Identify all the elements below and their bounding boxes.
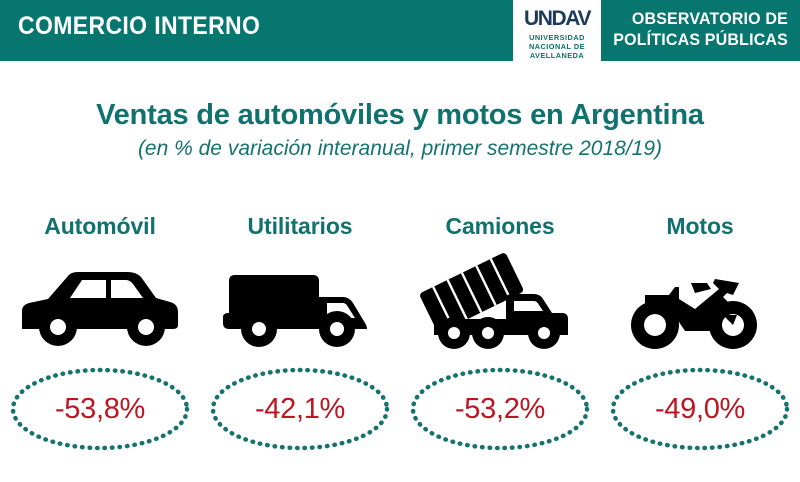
undav-name-line-3: AVELLANEDA: [529, 51, 585, 60]
undav-logo-card: UNDAV UNIVERSIDAD NACIONAL DE AVELLANEDA: [513, 0, 601, 75]
category-column-camiones: Camiones: [400, 212, 600, 482]
category-column-utilitarios: Utilitarios -42,1%: [200, 212, 400, 482]
value-badge-motos: -49,0%: [608, 365, 792, 453]
value-utilitarios: -42,1%: [255, 394, 345, 424]
category-label-motos: Motos: [666, 212, 733, 240]
category-label-utilitarios: Utilitarios: [248, 212, 353, 240]
page-title: Ventas de automóviles y motos en Argenti…: [0, 98, 800, 132]
infographic-root: COMERCIO INTERNO OBSERVATORIO DE POLÍTIC…: [0, 0, 800, 482]
value-badge-camiones: -53,2%: [408, 365, 592, 453]
header-observatory-title: OBSERVATORIO DE POLÍTICAS PÚBLICAS: [600, 8, 788, 50]
page-subtitle: (en % de variación interanual, primer se…: [0, 136, 800, 162]
dump-truck-icon: [412, 250, 588, 355]
category-column-motos: Motos -49,0%: [600, 212, 800, 482]
value-motos: -49,0%: [655, 394, 745, 424]
value-badge-utilitarios: -42,1%: [208, 365, 392, 453]
observatory-line-1: OBSERVATORIO DE: [600, 8, 788, 29]
motorcycle-icon: [615, 250, 785, 355]
value-camiones: -53,2%: [455, 394, 545, 424]
observatory-line-2: POLÍTICAS PÚBLICAS: [600, 29, 788, 50]
undav-wordmark: UNDAV: [524, 8, 590, 30]
category-label-camiones: Camiones: [445, 212, 554, 240]
undav-name-line-2: NACIONAL DE: [529, 42, 585, 51]
category-label-automovil: Automóvil: [44, 212, 156, 240]
category-columns: Automóvil -53,8% U: [0, 212, 800, 482]
van-icon: [215, 250, 385, 355]
title-block: Ventas de automóviles y motos en Argenti…: [0, 98, 800, 162]
value-badge-automovil: -53,8%: [8, 365, 192, 453]
category-column-automovil: Automóvil -53,8%: [0, 212, 200, 482]
header-section-title: COMERCIO INTERNO: [18, 12, 260, 41]
value-automovil: -53,8%: [55, 394, 145, 424]
car-icon: [10, 250, 190, 355]
undav-university-name: UNIVERSIDAD NACIONAL DE AVELLANEDA: [529, 33, 585, 61]
undav-name-line-1: UNIVERSIDAD: [529, 33, 585, 42]
